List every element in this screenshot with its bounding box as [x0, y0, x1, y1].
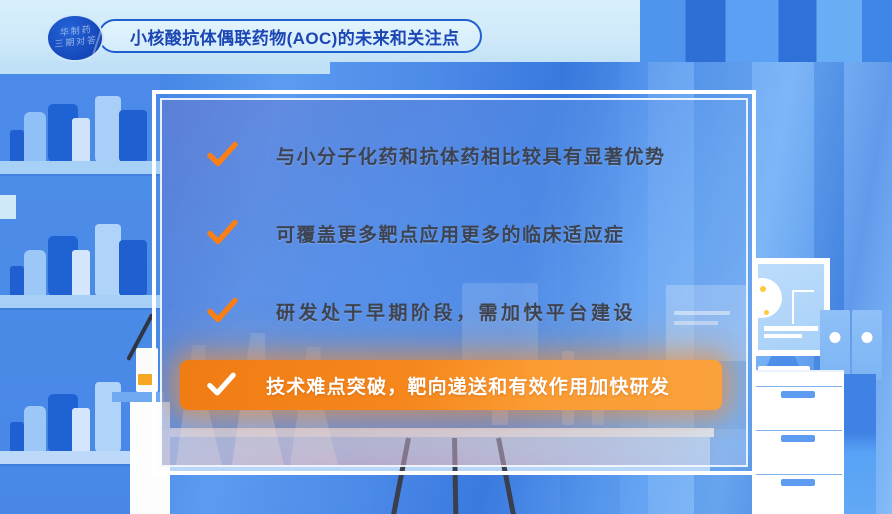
list-item[interactable]: 与小分子化药和抗体药相比较具有显著优势 [162, 126, 746, 184]
computer-monitor [752, 258, 830, 356]
binder-hole [830, 332, 841, 343]
slide-canvas: 小核酸抗体偶联药物(AOC)的未来和关注点 华 制 药 三 期 对 答 [0, 0, 892, 514]
bottle-silhouette [10, 266, 24, 296]
monitor-screen [758, 264, 824, 350]
binder-hole [862, 332, 873, 343]
bottle-silhouette [119, 110, 147, 162]
bottle-silhouette [10, 422, 24, 452]
drawer-handle[interactable] [781, 479, 815, 486]
check-icon [206, 295, 238, 327]
cabinet-drawer[interactable] [754, 474, 842, 514]
drawer-handle[interactable] [781, 435, 815, 442]
check-icon [206, 217, 238, 249]
bullet-list: 与小分子化药和抗体药相比较具有显著优势 可覆盖更多靶点应用更多的临床适应症 [162, 100, 746, 410]
title-pill: 小核酸抗体偶联药物(AOC)的未来和关注点 [98, 19, 482, 53]
content-panel-inner: 与小分子化药和抗体药相比较具有显著优势 可覆盖更多靶点应用更多的临床适应症 [160, 98, 748, 467]
cabinet-drawer[interactable] [754, 430, 842, 474]
bottle-silhouette [24, 112, 46, 162]
drawer-cabinet [752, 370, 844, 514]
top-band-secondary [0, 62, 330, 74]
monitor-dot [760, 286, 766, 292]
slide-header: 小核酸抗体偶联药物(AOC)的未来和关注点 华 制 药 三 期 对 答 [0, 0, 892, 62]
bottle-silhouette [10, 130, 24, 162]
binder [852, 310, 882, 380]
bottle-silhouette [72, 408, 90, 452]
bottle-silhouette [24, 406, 46, 452]
cabinet-side [844, 374, 876, 514]
bench-through-glass [162, 429, 748, 465]
list-item[interactable]: 研发处于早期阶段，需加快平台建设 [162, 282, 746, 340]
list-item-highlighted[interactable]: 技术难点突破，靶向递送和有效作用加快研发 [180, 360, 722, 410]
bottle-silhouette [95, 224, 121, 296]
list-item[interactable]: 可覆盖更多靶点应用更多的临床适应症 [162, 204, 746, 262]
page-title: 小核酸抗体偶联药物(AOC)的未来和关注点 [130, 24, 460, 49]
list-item-label: 可覆盖更多靶点应用更多的临床适应症 [276, 220, 625, 247]
monitor-axis [792, 290, 814, 292]
content-panel: 与小分子化药和抗体药相比较具有显著优势 可覆盖更多靶点应用更多的临床适应症 [152, 90, 756, 475]
list-item-label: 与小分子化药和抗体药相比较具有显著优势 [276, 142, 666, 169]
monitor-axis [792, 290, 794, 324]
monitor-text-bar [764, 326, 818, 331]
program-logo-badge: 华 制 药 三 期 对 答 [46, 14, 104, 62]
bottle-silhouette [119, 240, 147, 296]
bottle-silhouette [72, 250, 90, 296]
bottle-silhouette [72, 118, 90, 162]
top-band-tertiary [0, 195, 16, 219]
shelf-board [0, 295, 160, 308]
list-item-label: 技术难点突破，靶向递送和有效作用加快研发 [266, 372, 670, 399]
check-icon [206, 139, 238, 171]
monitor-text-bar [764, 334, 802, 338]
bottle-silhouette [24, 250, 46, 296]
shelf-board [0, 161, 160, 174]
monitor-graphic-circle [758, 278, 782, 318]
bottom-glow [160, 405, 748, 467]
drawer-handle[interactable] [781, 391, 815, 398]
cabinet-drawer[interactable] [754, 386, 842, 430]
monitor-dot [764, 310, 769, 315]
check-icon [206, 370, 236, 400]
bottle-silhouette [95, 96, 121, 162]
list-item-label: 研发处于早期阶段，需加快平台建设 [276, 298, 636, 325]
logo-text: 华 制 药 三 期 对 答 [48, 14, 102, 62]
